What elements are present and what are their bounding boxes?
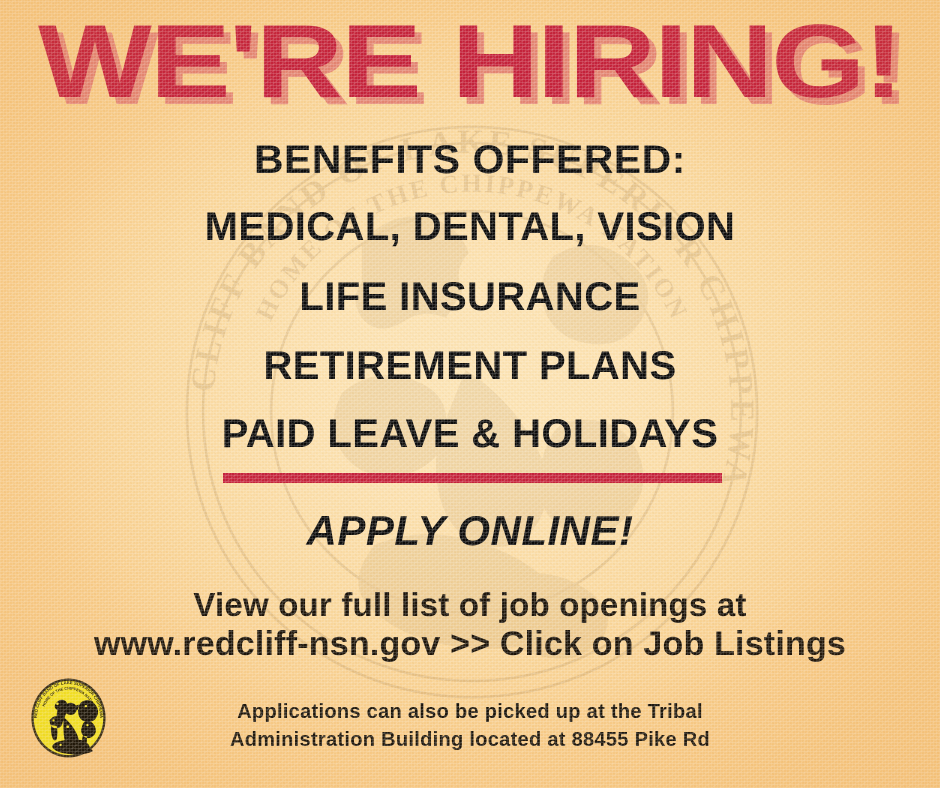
- apply-online-heading: APPLY ONLINE!: [0, 507, 940, 555]
- hiring-flyer: RED CLIFF BAND OF LAKE SUPERIOR CHIPPEWA…: [0, 0, 940, 788]
- benefit-item-life-insurance: LIFE INSURANCE: [0, 275, 940, 320]
- benefit-item-retirement-plans: RETIREMENT PLANS: [0, 344, 940, 389]
- benefit-item-medical-dental-vision: MEDICAL, DENTAL, VISION: [0, 205, 940, 250]
- benefits-heading: BENEFITS OFFERED:: [0, 138, 940, 183]
- benefit-item-paid-leave-holidays: PAID LEAVE & HOLIDAYS: [0, 412, 940, 457]
- page-title: WE'RE HIRING!: [0, 10, 940, 114]
- tribal-logo: RED CLIFF BAND OF LAKE SUPERIOR CHIPPEWA…: [29, 676, 108, 760]
- pickup-note-line-2: Administration Building located at 88455…: [0, 729, 940, 752]
- website-link[interactable]: www.redcliff-nsn.gov >> Click on Job Lis…: [0, 625, 940, 664]
- pickup-note-line-1: Applications can also be picked up at th…: [0, 701, 940, 724]
- job-openings-instruction: View our full list of job openings at: [0, 586, 940, 624]
- red-divider: [223, 473, 722, 483]
